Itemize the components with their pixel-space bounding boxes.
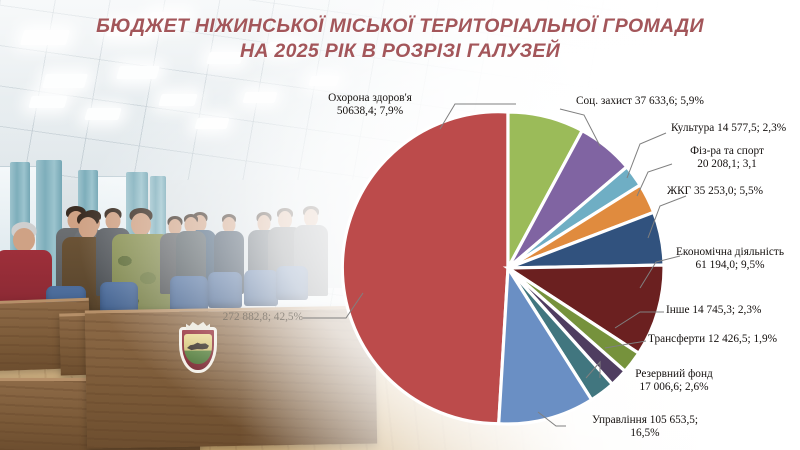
label-admin-line2: 16,5% [566, 427, 724, 440]
label-culture: Культура 14 577,5; 2,3% [671, 122, 786, 135]
label-health: Охорона здоров'я 50638,4; 7,9% [300, 92, 440, 119]
label-economy-line2: 61 194,0; 9,5% [664, 259, 796, 272]
label-admin: Управління 105 653,5; 16,5% [566, 414, 724, 441]
label-reserve-line2: 17 006,6; 2,6% [604, 381, 744, 394]
title-line-1: БЮДЖЕТ НІЖИНСЬКОЇ МІСЬКОЇ ТЕРИТОРІАЛЬНОЇ… [96, 15, 704, 37]
label-other: Інше 14 745,3; 2,3% [666, 304, 761, 317]
label-utilities: ЖКГ 35 253,0; 5,5% [667, 185, 763, 198]
label-transfers: Трансферти 12 426,5; 1,9% [648, 333, 777, 346]
label-sport-line2: 20 208,1; 3,1 [662, 158, 792, 171]
label-education: 272 882,8; 42,5% [163, 311, 303, 324]
slice-education[interactable] [342, 112, 508, 424]
label-reserve-line1: Резервний фонд [604, 368, 744, 381]
slide-title: БЮДЖЕТ НІЖИНСЬКОЇ МІСЬКОЇ ТЕРИТОРІАЛЬНОЇ… [0, 14, 800, 64]
label-sport-line1: Фіз-ра та спорт [662, 145, 792, 158]
label-admin-line1: Управління 105 653,5; [566, 414, 724, 427]
label-reserve: Резервний фонд 17 006,6; 2,6% [604, 368, 744, 395]
label-health-line1: Охорона здоров'я [300, 92, 440, 105]
label-economy: Економічна діяльність 61 194,0; 9,5% [664, 246, 796, 273]
leader-culture [627, 133, 666, 178]
label-economy-line1: Економічна діяльність [664, 246, 796, 259]
label-health-line2: 50638,4; 7,9% [300, 105, 440, 118]
pie-chart: Охорона здоров'я 50638,4; 7,9% Соц. захи… [0, 0, 800, 450]
label-social: Соц. захист 37 633,6; 5,9% [576, 95, 704, 108]
infographic-slide: БЮДЖЕТ НІЖИНСЬКОЇ МІСЬКОЇ ТЕРИТОРІАЛЬНОЇ… [0, 0, 800, 450]
label-sport: Фіз-ра та спорт 20 208,1; 3,1 [662, 145, 792, 172]
title-line-2: НА 2025 РІК В РОЗРІЗІ ГАЛУЗЕЙ [0, 39, 800, 64]
